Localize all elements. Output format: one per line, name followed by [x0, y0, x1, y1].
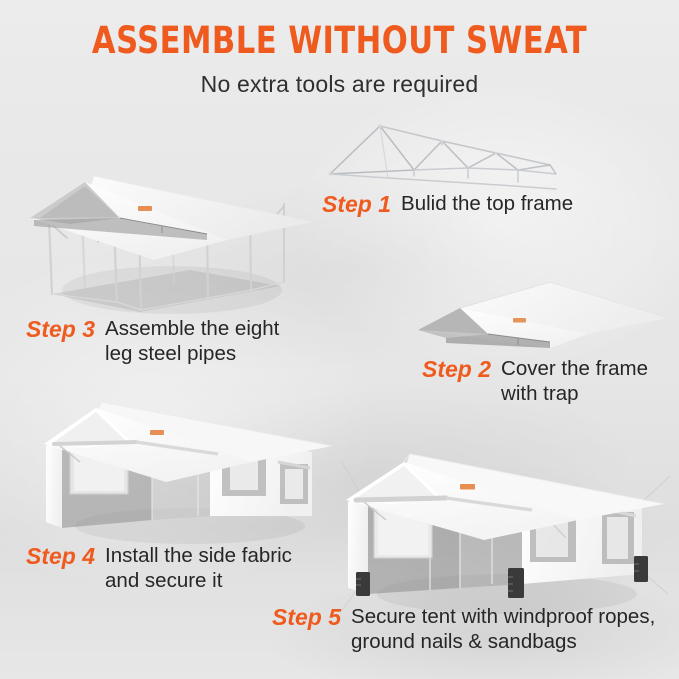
infographic-canvas: ASSEMBLE WITHOUT SWEAT No extra tools ar…	[0, 0, 679, 679]
page-title: ASSEMBLE WITHOUT SWEAT	[27, 22, 652, 61]
illustration-canopy-legs	[22, 160, 322, 320]
vevor-logo-icon	[138, 206, 152, 211]
header: ASSEMBLE WITHOUT SWEAT No extra tools ar…	[0, 22, 679, 98]
illustration-secured-tent	[342, 442, 672, 614]
illustration-side-fabric	[40, 390, 340, 542]
step-5-text: Secure tent with windproof ropes, ground…	[351, 604, 655, 654]
vevor-logo-icon	[460, 484, 475, 490]
step-2-caption: Step 2 Cover the frame with trap	[412, 356, 648, 406]
illustration-tarp-roof	[400, 272, 679, 364]
step-3-caption: Step 3 Assemble the eight leg steel pipe…	[16, 316, 279, 366]
vevor-logo-icon	[150, 430, 164, 435]
step-1-caption: Step 1 Bulid the top frame	[312, 191, 573, 218]
step-3-text: Assemble the eight leg steel pipes	[105, 316, 279, 366]
mesh-window	[600, 508, 636, 564]
sandbag	[634, 556, 648, 582]
step-4-caption: Step 4 Install the side fabric and secur…	[16, 543, 292, 593]
vevor-logo-icon	[513, 318, 526, 323]
step-5-label: Step 5	[272, 604, 341, 631]
step-2-text: Cover the frame with trap	[501, 356, 648, 406]
step-5-caption: Step 5 Secure tent with windproof ropes,…	[262, 604, 655, 654]
step-3-label: Step 3	[26, 316, 95, 343]
mesh-window	[278, 462, 310, 504]
step-4-text: Install the side fabric and secure it	[105, 543, 292, 593]
sandbag	[508, 568, 524, 598]
step-4-label: Step 4	[26, 543, 95, 570]
page-subtitle: No extra tools are required	[0, 71, 679, 98]
step-1-label: Step 1	[322, 191, 391, 218]
sandbag	[356, 572, 370, 596]
step-1-text: Bulid the top frame	[401, 191, 573, 216]
step-2-label: Step 2	[422, 356, 491, 383]
